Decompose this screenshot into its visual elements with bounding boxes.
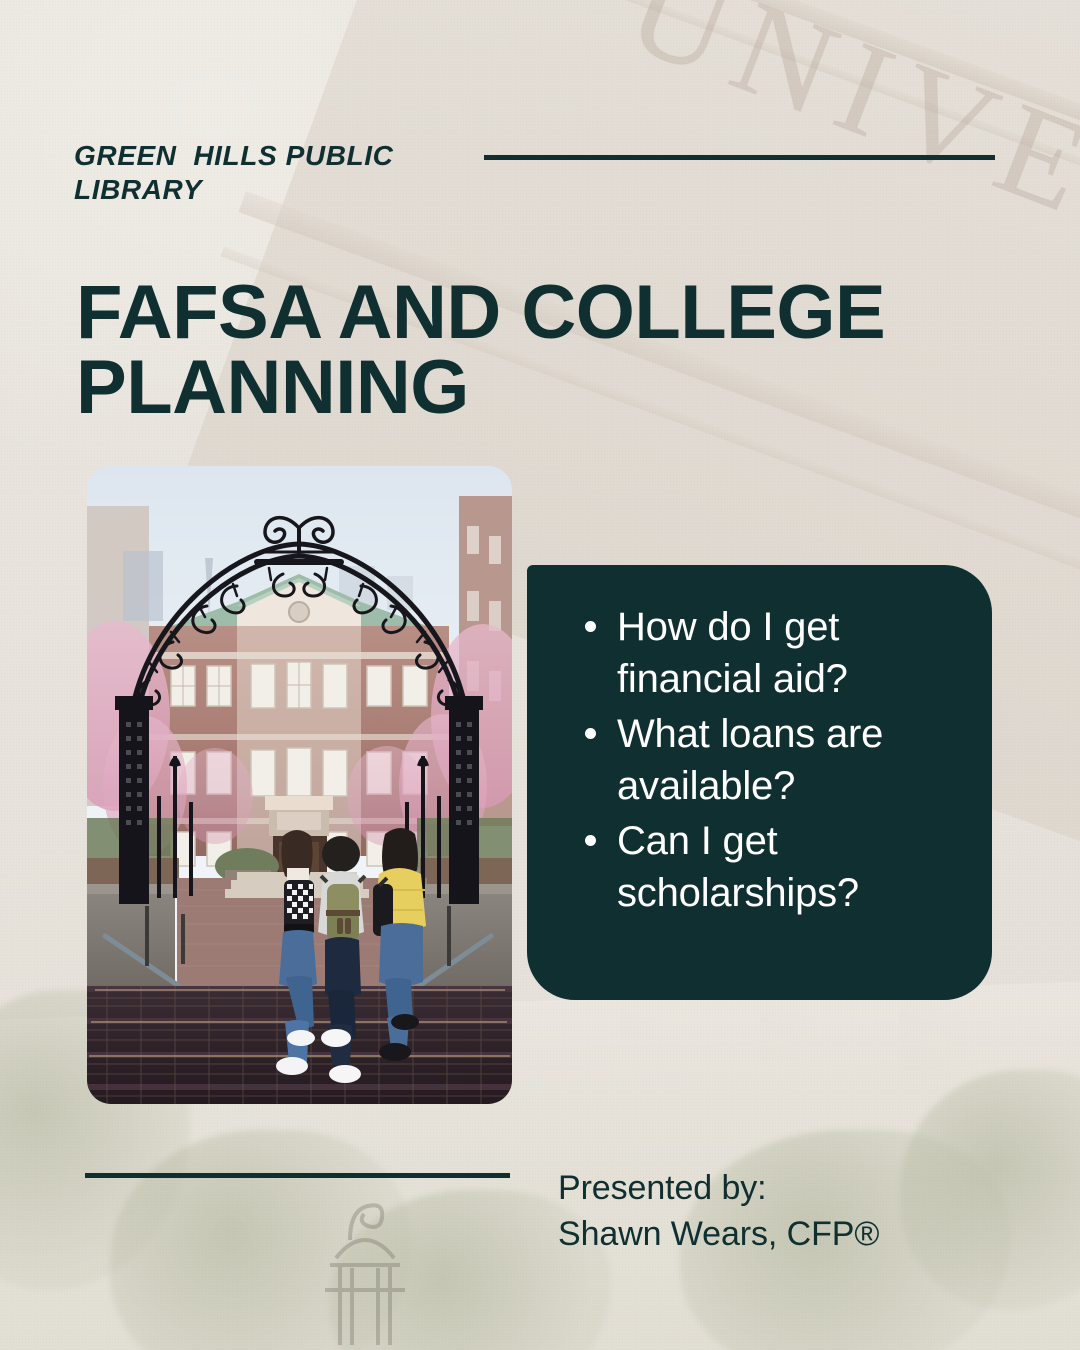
footer-divider-rule — [85, 1173, 510, 1178]
questions-list: How do I get financial aid? What loans a… — [585, 601, 974, 922]
page-title: FAFSA AND COLLEGE PLANNING — [76, 275, 906, 425]
list-item: How do I get financial aid? — [585, 601, 974, 705]
library-name: GREEN HILLS PUBLIC LIBRARY — [74, 139, 474, 208]
header-divider-rule — [484, 155, 995, 160]
presented-by-label: Presented by: — [558, 1169, 767, 1207]
campus-gate-illustration — [87, 466, 512, 1104]
list-item: Can I get scholarships? — [585, 815, 974, 919]
list-item: What loans are available? — [585, 708, 974, 812]
campus-gate-photo — [87, 466, 512, 1104]
presenter-name: Shawn Wears, CFP® — [558, 1212, 1018, 1258]
questions-card: How do I get financial aid? What loans a… — [527, 565, 992, 1000]
presenter-block: Presented by: Shawn Wears, CFP® — [558, 1166, 1018, 1257]
event-flyer: UNIVERSITY GREEN HILLS PUBLIC LIBRARY FA… — [0, 0, 1080, 1350]
